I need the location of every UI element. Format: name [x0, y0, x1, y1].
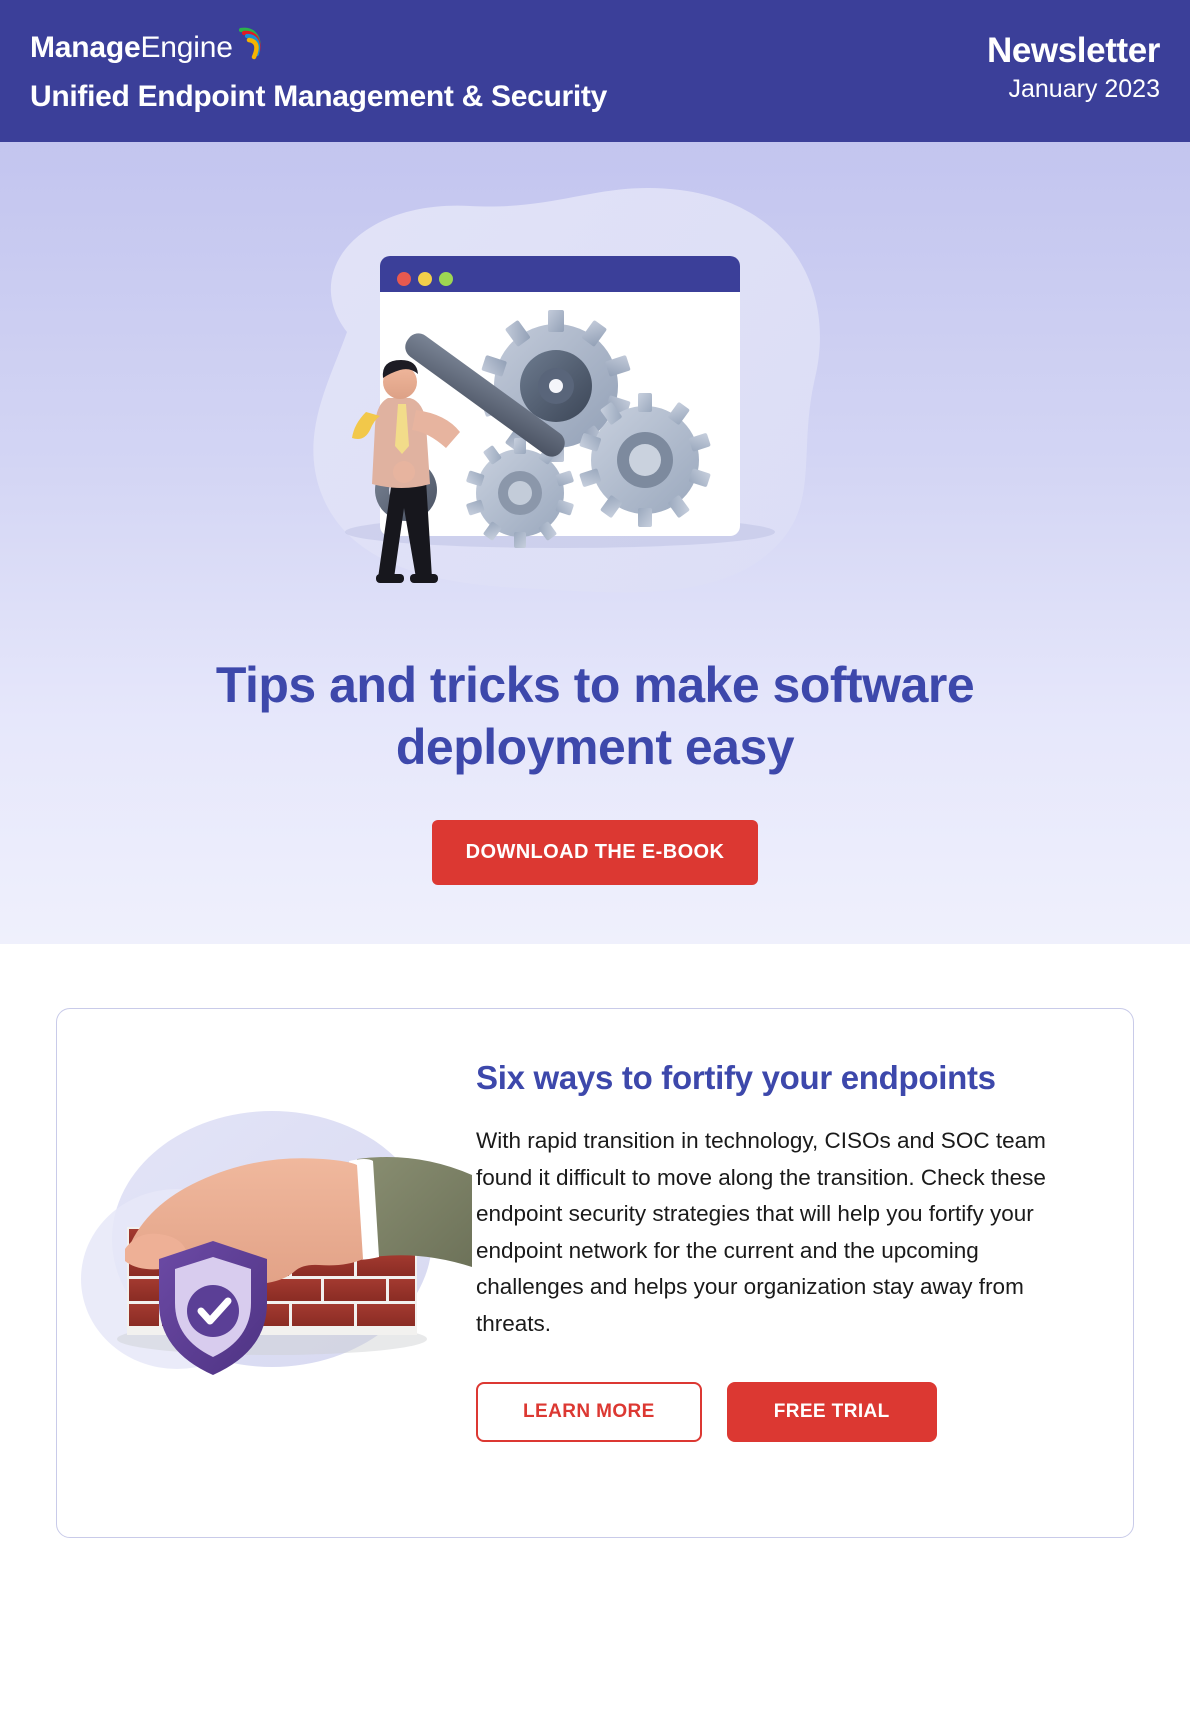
article-card-body: Six ways to fortify your endpoints With …: [472, 1009, 1133, 1442]
issue-date: January 2023: [987, 73, 1160, 105]
newsletter-page: ManageEngine Unified Endpoint Management…: [0, 0, 1190, 1732]
hero-headline: Tips and tricks to make software deploym…: [0, 654, 1190, 778]
download-ebook-button[interactable]: DOWNLOAD THE E-BOOK: [432, 820, 759, 885]
logo-word-engine: Engine: [141, 31, 233, 64]
newsletter-label: Newsletter: [987, 31, 1160, 71]
logo-wordmark: ManageEngine: [30, 32, 233, 64]
article-card-media: [57, 1009, 472, 1537]
article-card-title: Six ways to fortify your endpoints: [476, 1057, 1077, 1099]
hero-cta-wrap: DOWNLOAD THE E-BOOK: [0, 820, 1190, 885]
manageengine-logo: ManageEngine: [30, 32, 607, 72]
hero-section: Tips and tricks to make software deploym…: [0, 142, 1190, 944]
article-card-section: Six ways to fortify your endpoints With …: [0, 944, 1190, 1732]
software-deployment-gears-illustration: [0, 160, 1190, 630]
manageengine-swoosh-icon: [229, 26, 263, 62]
learn-more-button[interactable]: LEARN MORE: [476, 1382, 702, 1442]
article-card-actions: LEARN MORE FREE TRIAL: [476, 1382, 1077, 1442]
free-trial-button[interactable]: FREE TRIAL: [727, 1382, 937, 1442]
page-header: ManageEngine Unified Endpoint Management…: [0, 0, 1190, 142]
article-card: Six ways to fortify your endpoints With …: [56, 1008, 1134, 1538]
brand-block: ManageEngine Unified Endpoint Management…: [30, 28, 607, 114]
logo-word-manage: Manage: [30, 31, 141, 64]
article-card-description: With rapid transition in technology, CIS…: [476, 1123, 1077, 1342]
header-right-block: Newsletter January 2023: [987, 31, 1160, 111]
hand-placing-shield-on-brick-wall-illustration: [57, 1009, 472, 1409]
product-line-title: Unified Endpoint Management & Security: [30, 80, 607, 114]
